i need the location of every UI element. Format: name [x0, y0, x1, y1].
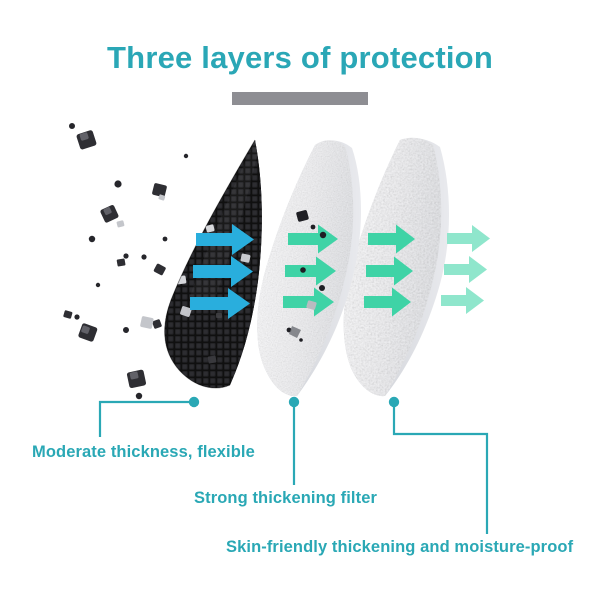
arrow-green-out-3: [441, 287, 484, 314]
arrow-green-out-1: [447, 225, 490, 252]
callout-lines: [100, 402, 487, 534]
arrow-green-out-2: [444, 256, 487, 283]
arrows-green-inner: [364, 225, 415, 317]
callout-label-skin-friendly: Skin-friendly thickening and moisture-pr…: [226, 538, 573, 557]
callout-label-strong-filter: Strong thickening filter: [194, 489, 377, 508]
illustration-stage: Three layers of protection Moderate thic…: [0, 0, 600, 600]
three-layer-diagram: [0, 0, 600, 600]
arrows-blue: [190, 224, 254, 319]
callout-dot-1: [289, 397, 299, 407]
callout-line-2: [394, 402, 487, 534]
callout-line-0: [100, 402, 194, 437]
title-underline-bar: [232, 92, 368, 105]
callout-dot-2: [389, 397, 399, 407]
arrows-green-out: [441, 225, 490, 314]
page-title: Three layers of protection: [0, 40, 600, 76]
callout-label-moderate-thickness: Moderate thickness, flexible: [32, 443, 255, 462]
callout-dot-0: [189, 397, 199, 407]
callout-dots: [189, 397, 399, 407]
